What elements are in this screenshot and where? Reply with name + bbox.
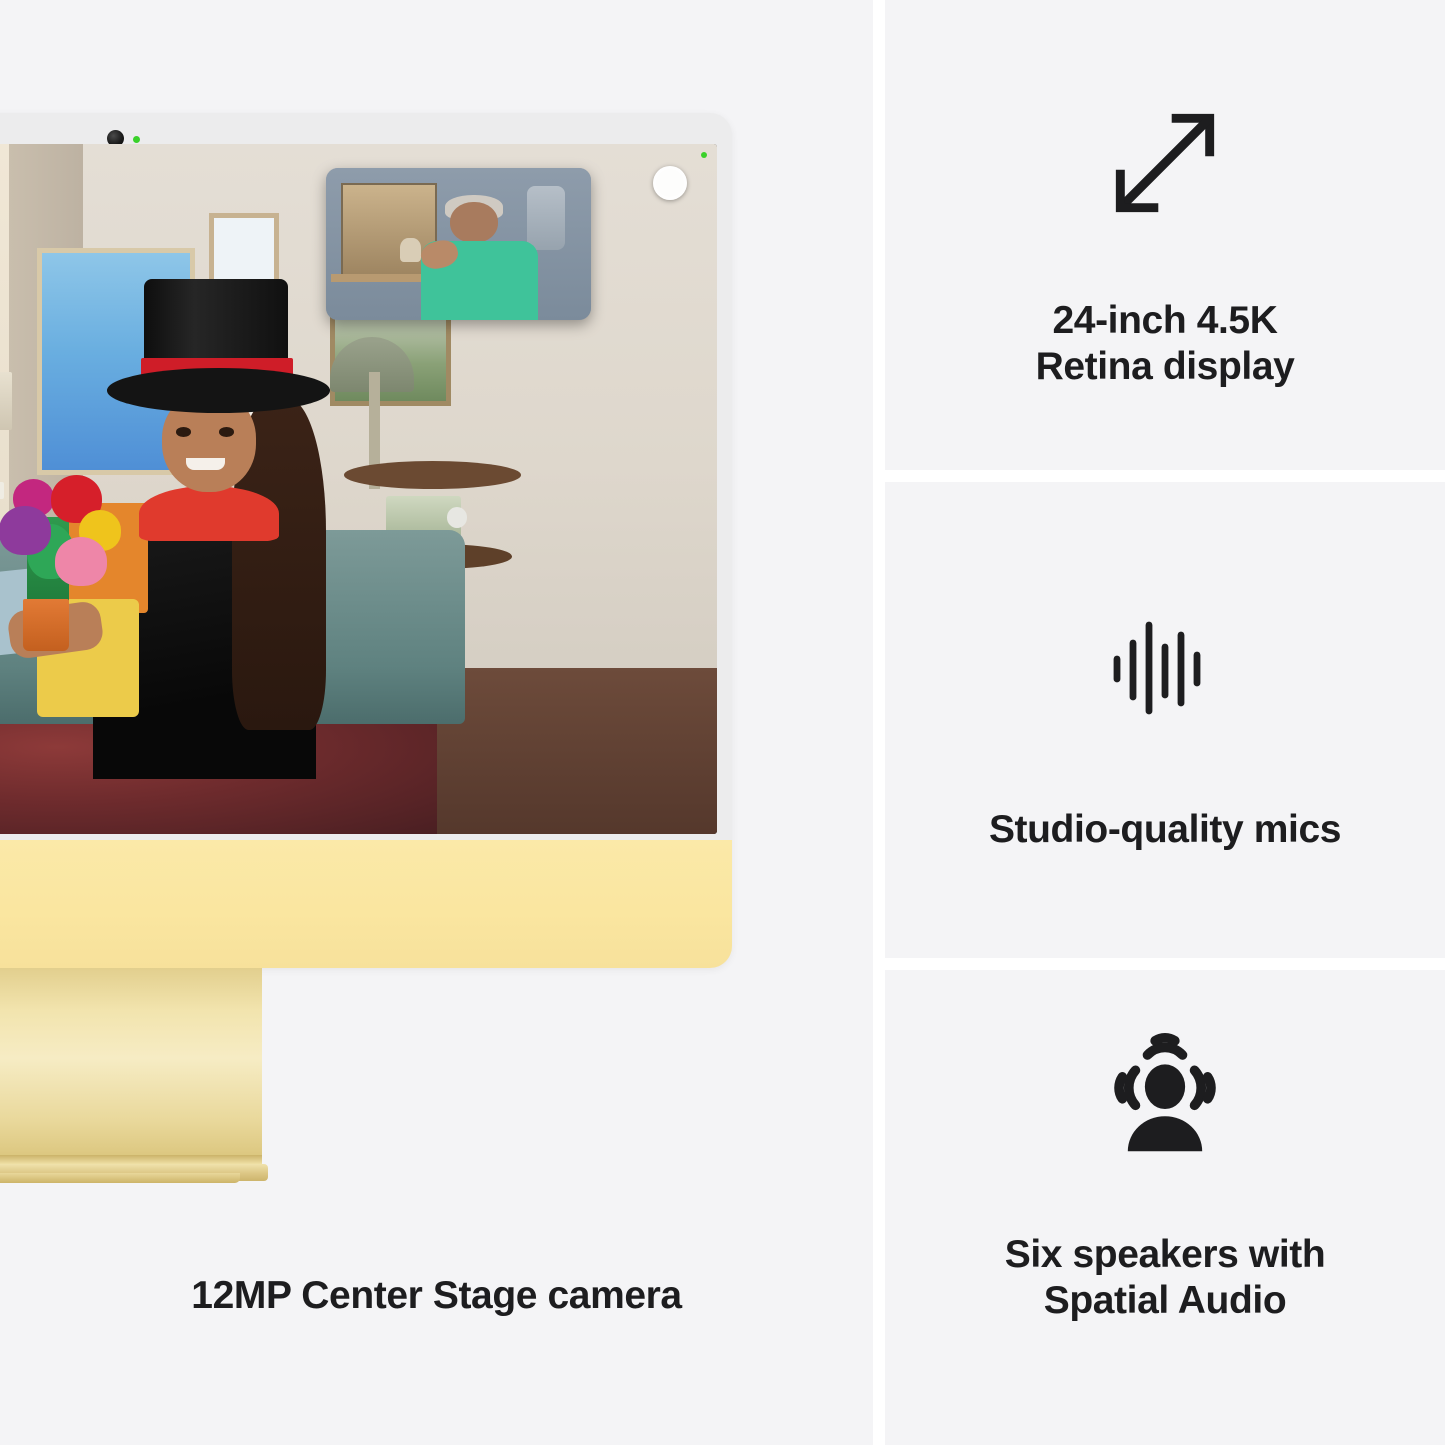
imac-device-illustration	[0, 113, 732, 1178]
display-caption: 24-inch 4.5K Retina display	[1036, 298, 1295, 390]
self-view-tile[interactable]	[326, 168, 592, 320]
spatial-audio-person-icon	[1095, 1020, 1235, 1160]
panel-retina-display: 24-inch 4.5K Retina display	[885, 0, 1445, 470]
side-table	[344, 461, 521, 489]
audio-waveform-icon	[1105, 607, 1225, 727]
display-caption-line1: 24-inch 4.5K	[1036, 298, 1295, 344]
display-caption-line2: Retina display	[1036, 344, 1295, 390]
imac-feature-grid: 12MP Center Stage camera 24-inch 4.5K Re…	[0, 0, 1445, 1445]
speakers-caption-line1: Six speakers with	[1005, 1232, 1326, 1278]
mics-caption: Studio-quality mics	[989, 807, 1341, 853]
facetime-call-scene	[0, 144, 717, 834]
floor-lamp	[0, 372, 12, 431]
imac-chin	[0, 840, 732, 968]
imac-display-screen	[0, 144, 717, 834]
panel-studio-mics: Studio-quality mics	[885, 482, 1445, 958]
mics-caption-line1: Studio-quality mics	[989, 807, 1341, 853]
screen-status-led-icon	[701, 152, 707, 158]
panel-center-stage-camera: 12MP Center Stage camera	[0, 0, 873, 1445]
imac-enclosure	[0, 113, 732, 968]
panel-spatial-audio: Six speakers with Spatial Audio	[885, 970, 1445, 1445]
camera-caption: 12MP Center Stage camera	[0, 1273, 873, 1319]
flower-pot	[23, 599, 70, 651]
imac-stand-neck	[0, 968, 262, 1164]
diagonal-resize-arrows-icon	[1098, 96, 1232, 230]
recording-led-icon	[133, 136, 140, 143]
speakers-caption-line2: Spatial Audio	[1005, 1278, 1326, 1324]
speakers-caption: Six speakers with Spatial Audio	[1005, 1232, 1326, 1324]
